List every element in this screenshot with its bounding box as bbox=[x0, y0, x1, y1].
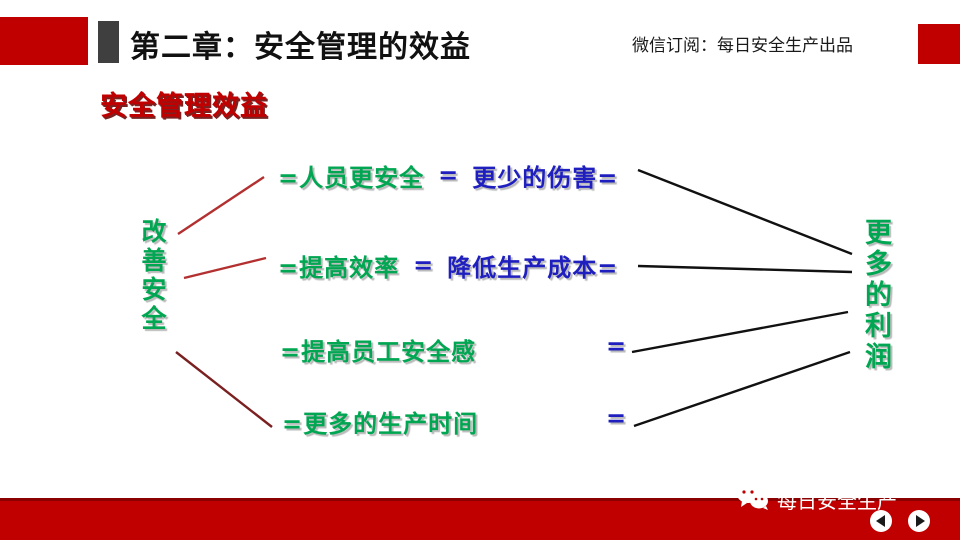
diagram-node-more-profit: 更多的利润 bbox=[862, 218, 889, 373]
diagram-row-4: =更多的生产时间 bbox=[282, 404, 478, 438]
row-2-equals: = bbox=[413, 251, 433, 279]
red-line-to-row-2 bbox=[184, 258, 266, 278]
black-line-from-row-4 bbox=[634, 352, 850, 426]
black-line-from-row-1 bbox=[638, 170, 852, 254]
row-1-equals: = bbox=[438, 161, 458, 189]
arrow-left-icon bbox=[876, 515, 885, 527]
black-line-from-row-3 bbox=[632, 312, 848, 352]
diagram-row-2: =提高效率 = 降低生产成本= bbox=[278, 248, 618, 282]
red-line-to-row-4 bbox=[176, 352, 272, 427]
row-4-cause: =更多的生产时间 bbox=[282, 404, 478, 439]
wechat-icon bbox=[736, 483, 770, 511]
row-1-effect: 更少的伤害= bbox=[472, 158, 618, 193]
row-1-cause: =人员更安全 bbox=[278, 158, 424, 193]
diagram-row-3: =提高员工安全感 bbox=[280, 332, 476, 366]
row-3-equals: = bbox=[606, 332, 626, 360]
benefits-diagram: 改善安全 更多的利润 =人员更安全 = 更少的伤害= =提高效率 = 降低生产成… bbox=[0, 0, 960, 500]
red-line-to-row-1 bbox=[178, 177, 264, 234]
nav-next-button[interactable] bbox=[908, 510, 930, 532]
row-2-cause: =提高效率 bbox=[278, 248, 399, 283]
row-4-equals: = bbox=[606, 404, 626, 432]
black-line-from-row-2 bbox=[638, 266, 852, 272]
slide: 第二章：安全管理的效益 微信订阅：每日安全生产出品 安全管理效益 改善安全 更多… bbox=[0, 0, 960, 540]
diagram-node-improve-safety: 改善安全 bbox=[140, 218, 165, 334]
arrow-right-icon bbox=[916, 515, 925, 527]
diagram-row-1: =人员更安全 = 更少的伤害= bbox=[278, 158, 618, 192]
row-2-effect: 降低生产成本= bbox=[447, 248, 618, 283]
nav-prev-button[interactable] bbox=[870, 510, 892, 532]
row-3-cause: =提高员工安全感 bbox=[280, 332, 476, 367]
